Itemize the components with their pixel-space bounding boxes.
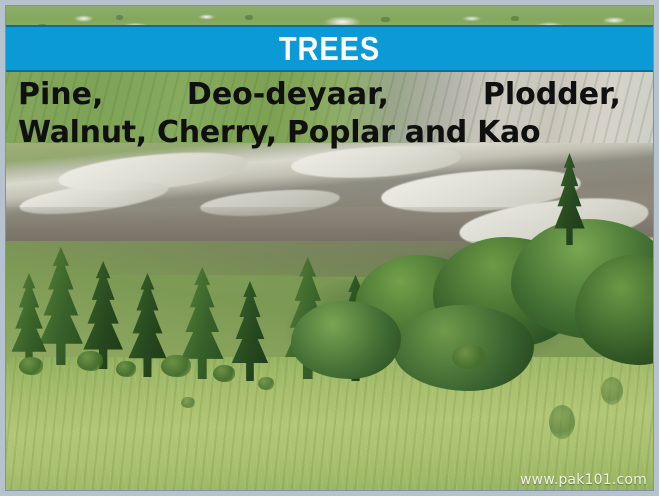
forest-canopy <box>291 301 401 379</box>
caption-line-2: Walnut, Cherry, Poplar and Kao <box>6 114 653 152</box>
conifer-tree <box>549 153 589 245</box>
conifer-tree <box>226 281 274 381</box>
slide-canvas: TREES Pine, Deo-deyaar, Plodder, Walnut,… <box>0 0 659 496</box>
title-bar: TREES <box>6 25 653 72</box>
conifer-tree <box>6 273 52 369</box>
meadow-shrub <box>116 361 136 377</box>
meadow-shrub <box>77 351 103 371</box>
meadow-shrub <box>161 355 191 377</box>
caption-block: Pine, Deo-deyaar, Plodder, Walnut, Cherr… <box>6 76 653 152</box>
page-title: TREES <box>279 32 380 65</box>
caption-line-1: Pine, Deo-deyaar, Plodder, <box>6 76 653 114</box>
meadow-shrub <box>181 397 195 408</box>
meadow-shrub <box>19 357 43 375</box>
meadow-shrub <box>258 377 274 390</box>
meadow-shrub <box>213 365 235 382</box>
meadow-shrub <box>452 345 486 369</box>
watermark: www.pak101.com <box>520 472 647 488</box>
